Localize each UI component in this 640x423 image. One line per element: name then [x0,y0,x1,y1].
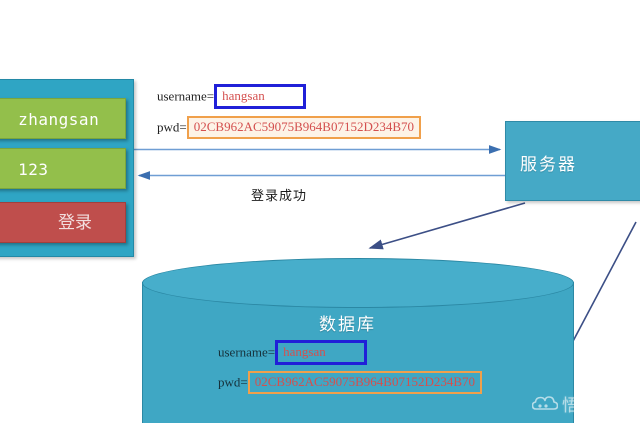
database-top-ellipse [142,258,574,308]
diagram-canvas: 号： zhangsan 码： 123 登录 username=hangsan p… [0,0,640,423]
account-field[interactable]: 号： zhangsan [0,98,126,139]
request-pwd-row: pwd=02CB962AC59075B964B07152D234B70 [157,116,421,139]
arrow-server-to-database [370,203,525,248]
password-field[interactable]: 码： 123 [0,148,126,189]
login-button[interactable]: 登录 [0,202,126,243]
stored-pwd-value: 02CB962AC59075B964B07152D234B70 [248,371,482,394]
request-pwd-key: pwd= [157,119,187,134]
watermark-text: 悟空问答 [562,391,634,416]
stored-pwd-row: pwd=02CB962AC59075B964B07152D234B70 [218,371,482,394]
line-database-to-server [571,222,636,345]
stored-username-value: hangsan [275,340,367,365]
request-pwd-value: 02CB962AC59075B964B07152D234B70 [187,116,421,139]
server-label: 服务器 [520,150,577,175]
stored-username-row: username=hangsan [218,340,367,365]
login-client-panel: 号： zhangsan 码： 123 登录 [0,79,134,257]
cloud-icon [532,395,558,413]
stored-username-key: username= [218,344,275,359]
request-username-key: username= [157,88,214,103]
request-username-value: hangsan [214,84,306,109]
stored-pwd-key: pwd= [218,374,248,389]
request-username-row: username=hangsan [157,84,306,109]
server-box: 服务器 [505,121,640,201]
login-success-label: 登录成功 [251,185,307,204]
watermark: 悟空问答 [532,391,634,416]
database-label: 数据库 [319,310,376,335]
